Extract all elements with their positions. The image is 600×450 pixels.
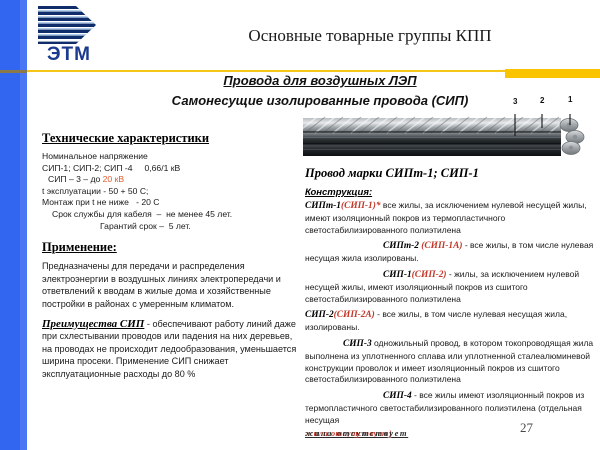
spec-line-sip124: СИП-1; СИП-2; СИП -4 0,66/1 кВ	[42, 163, 298, 175]
spec-line-sip3: СИП – 3 – до 20 кВ	[42, 174, 298, 186]
entry-indent-sip3: СИП-3 одножильный провод, в котором токо…	[305, 338, 597, 386]
mark-sip1: СИП-1	[383, 270, 412, 280]
mark-sip3: СИП-3	[343, 339, 372, 349]
advantages-paragraph: Преимущества СИП - обеспечивают работу л…	[42, 318, 298, 381]
page-title: Основные товарные группы КПП	[150, 26, 590, 46]
callout-number-2: 2	[540, 96, 544, 105]
page-number: 27	[520, 420, 533, 436]
spec-line-service-life: Срок службы для кабеля – не менее 45 лет…	[42, 209, 298, 221]
left-content-column: Технические характеристики Номинальное н…	[42, 131, 298, 381]
construction-entry-sip1: СИП-1(СИП-2) - жилы, за исключением нуле…	[305, 269, 597, 305]
logo-text: ЭТМ	[28, 44, 110, 66]
callout-number-1: 1	[568, 95, 572, 104]
cable-brand-heading: Провод марки СИПт-1; СИП-1	[305, 166, 597, 181]
entry-text-sip4: - все жилы имеют изоляционный покров из …	[305, 390, 584, 425]
spec-line-temp-operating: t эксплуатации - 50 + 50 С;	[42, 186, 298, 198]
mark-sipt2: СИПт-2	[383, 241, 421, 251]
right-content-column: Провод марки СИПт-1; СИП-1 Конструкция: …	[305, 166, 597, 439]
overlap-line-dark: жила отсутствует	[305, 428, 408, 438]
sip-cable-photo	[303, 114, 595, 164]
mark-sipt2-alt: (СИП-1А)	[421, 241, 462, 251]
mark-sipt1-alt: (СИП-1)*	[341, 201, 381, 211]
construction-entry-sip3: СИП-3 одножильный провод, в котором токо…	[305, 338, 597, 386]
entry-indent-sip1: СИП-1(СИП-2) - жилы, за исключением нуле…	[305, 269, 597, 305]
entry-indent-sipt2: СИПт-2 (СИП-1А) - все жилы, в том числе …	[305, 240, 597, 265]
construction-entry-sipt2: СИПт-2 (СИП-1А) - все жилы, в том числе …	[305, 240, 597, 265]
application-heading: Применение:	[42, 240, 298, 255]
construction-entry-sipt1: СИПт-1(СИП-1)* все жилы, за исключением …	[305, 200, 597, 236]
header-yellow-block	[505, 69, 600, 78]
mark-sip2: СИП-2	[305, 310, 334, 320]
left-blue-band-highlight	[20, 0, 27, 450]
cable-callout-group: 3 2 1	[303, 95, 595, 115]
spec-sip3-label: СИП – 3 – до	[48, 174, 103, 184]
spec-line-temp-install: Монтаж при t не ниже - 20 С	[42, 197, 298, 209]
section-subtitle-lep: Провода для воздушных ЛЭП	[140, 73, 500, 88]
construction-heading: Конструкция:	[305, 187, 597, 198]
mark-sip1-alt: (СИП-2)	[412, 270, 447, 280]
slide-canvas: ЭТМ Основные товарные группы КПП Провода…	[0, 0, 600, 450]
application-text: Предназначены для передачи и распределен…	[42, 260, 298, 310]
overlapping-last-line: жила отсутствует) жила отсутствует	[305, 428, 597, 439]
company-logo: ЭТМ	[28, 4, 110, 66]
left-band-notch	[0, 70, 27, 73]
tech-specs-list: Номинальное напряжение СИП-1; СИП-2; СИП…	[42, 151, 298, 232]
mark-sip2-alt: (СИП-2А)	[334, 310, 375, 320]
construction-entry-sip4: СИП-4 - все жилы имеют изоляционный покр…	[305, 390, 597, 426]
entry-indent-sip4: СИП-4 - все жилы имеют изоляционный покр…	[305, 390, 597, 426]
mark-sipt1: СИПт-1	[305, 201, 341, 211]
callout-number-3: 3	[513, 97, 517, 106]
hexagon-arrow-striped-icon	[36, 4, 98, 46]
mark-sip4: СИП-4	[383, 391, 412, 401]
tech-specs-heading: Технические характеристики	[42, 131, 298, 146]
spec-sip3-value: 20 кВ	[103, 174, 124, 184]
spec-line-voltage-label: Номинальное напряжение	[42, 151, 298, 163]
construction-entry-sip2: СИП-2(СИП-2А) - все жилы, в том числе ну…	[305, 309, 597, 334]
spec-line-warranty: Гарантий срок – 5 лет.	[42, 221, 298, 233]
advantages-lead: Преимущества СИП	[42, 318, 144, 330]
